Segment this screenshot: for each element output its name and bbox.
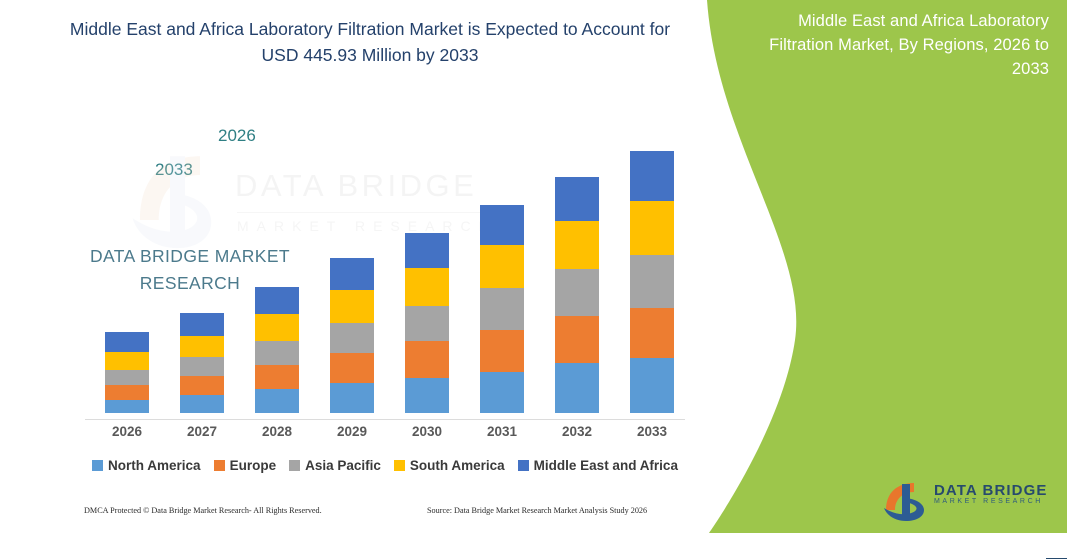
bar-segment [330,323,374,353]
bar-segment [180,313,224,336]
bar-2030 [405,233,449,413]
bar-2027 [180,313,224,413]
data-bridge-logo-wordmark: DATA BRIDGE MARKET RESEARCH [934,483,1056,505]
market-report-infographic: Middle East and Africa Laboratory Filtra… [0,0,1067,533]
bar-segment [630,151,674,201]
legend-item[interactable]: South America [394,458,505,473]
bar-segment [330,383,374,413]
x-axis-label-2028: 2028 [242,424,312,439]
x-axis-label-2033: 2033 [617,424,687,439]
bar-segment [105,332,149,352]
footer-copyright: DMCA Protected © Data Bridge Market Rese… [84,506,322,515]
bar-segment [255,287,299,314]
legend-label: Europe [230,458,277,473]
x-axis-label-2027: 2027 [167,424,237,439]
legend-label: Middle East and Africa [534,458,678,473]
bar-segment [180,336,224,357]
bar-segment [480,372,524,413]
legend-swatch-icon [214,460,225,471]
legend-item[interactable]: Middle East and Africa [518,458,678,473]
x-axis-line [85,419,685,420]
x-axis-labels: 20262027202820292030203120322033 [85,424,685,444]
x-axis-label-2029: 2029 [317,424,387,439]
bar-2026 [105,332,149,413]
bar-segment [405,233,449,268]
bar-2029 [330,258,374,413]
bar-segment [405,378,449,413]
bar-segment [330,353,374,383]
bar-segment [105,370,149,385]
bar-segment [555,177,599,221]
legend-label: North America [108,458,201,473]
bar-segment [480,205,524,245]
x-axis-label-2026: 2026 [92,424,162,439]
bar-segment [105,352,149,370]
bar-segment [555,363,599,413]
bar-segment [555,316,599,363]
footer-source: Source: Data Bridge Market Research Mark… [427,506,647,515]
bar-2033 [630,151,674,413]
bar-segment [255,365,299,389]
bar-2032 [555,177,599,413]
x-axis-label-2031: 2031 [467,424,537,439]
bar-segment [255,389,299,413]
bar-segment [330,290,374,323]
bar-segment [555,221,599,269]
logo-top-text: DATA BRIDGE [934,483,1056,498]
legend-swatch-icon [394,460,405,471]
legend-swatch-icon [92,460,103,471]
legend-swatch-icon [289,460,300,471]
bar-segment [180,357,224,376]
bar-segment [630,255,674,308]
legend-item[interactable]: Asia Pacific [289,458,381,473]
x-axis-label-2032: 2032 [542,424,612,439]
legend-label: Asia Pacific [305,458,381,473]
bar-segment [630,308,674,358]
footer: DMCA Protected © Data Bridge Market Rese… [0,506,690,526]
chart-title: Middle East and Africa Laboratory Filtra… [60,16,680,69]
panel-title: Middle East and Africa Laboratory Filtra… [749,10,1049,82]
bar-segment [480,288,524,330]
bar-segment [105,400,149,413]
bar-segment [630,201,674,255]
chart-legend: North AmericaEuropeAsia PacificSouth Ame… [85,455,685,475]
legend-item[interactable]: North America [92,458,201,473]
bar-segment [555,269,599,316]
bar-segment [480,330,524,372]
x-axis-label-2030: 2030 [392,424,462,439]
bar-segment [105,385,149,400]
bar-segment [330,258,374,290]
bar-segment [180,376,224,395]
stacked-bar-group [85,130,685,413]
bar-segment [180,395,224,413]
bar-segment [255,341,299,365]
bar-segment [405,306,449,341]
bar-segment [630,358,674,413]
bar-segment [405,268,449,306]
logo-bottom-text: MARKET RESEARCH [934,498,1056,505]
chart-plot-area: DATA BRIDGE MARKET RESEARCH [85,130,685,420]
bar-segment [255,314,299,341]
data-bridge-logo: DATA BRIDGE MARKET RESEARCH [880,480,1055,526]
bar-2031 [480,205,524,413]
bar-segment [480,245,524,288]
bar-segment [405,341,449,378]
legend-swatch-icon [518,460,529,471]
data-bridge-logo-mark [880,480,928,524]
legend-item[interactable]: Europe [214,458,277,473]
bar-2028 [255,287,299,413]
legend-label: South America [410,458,505,473]
